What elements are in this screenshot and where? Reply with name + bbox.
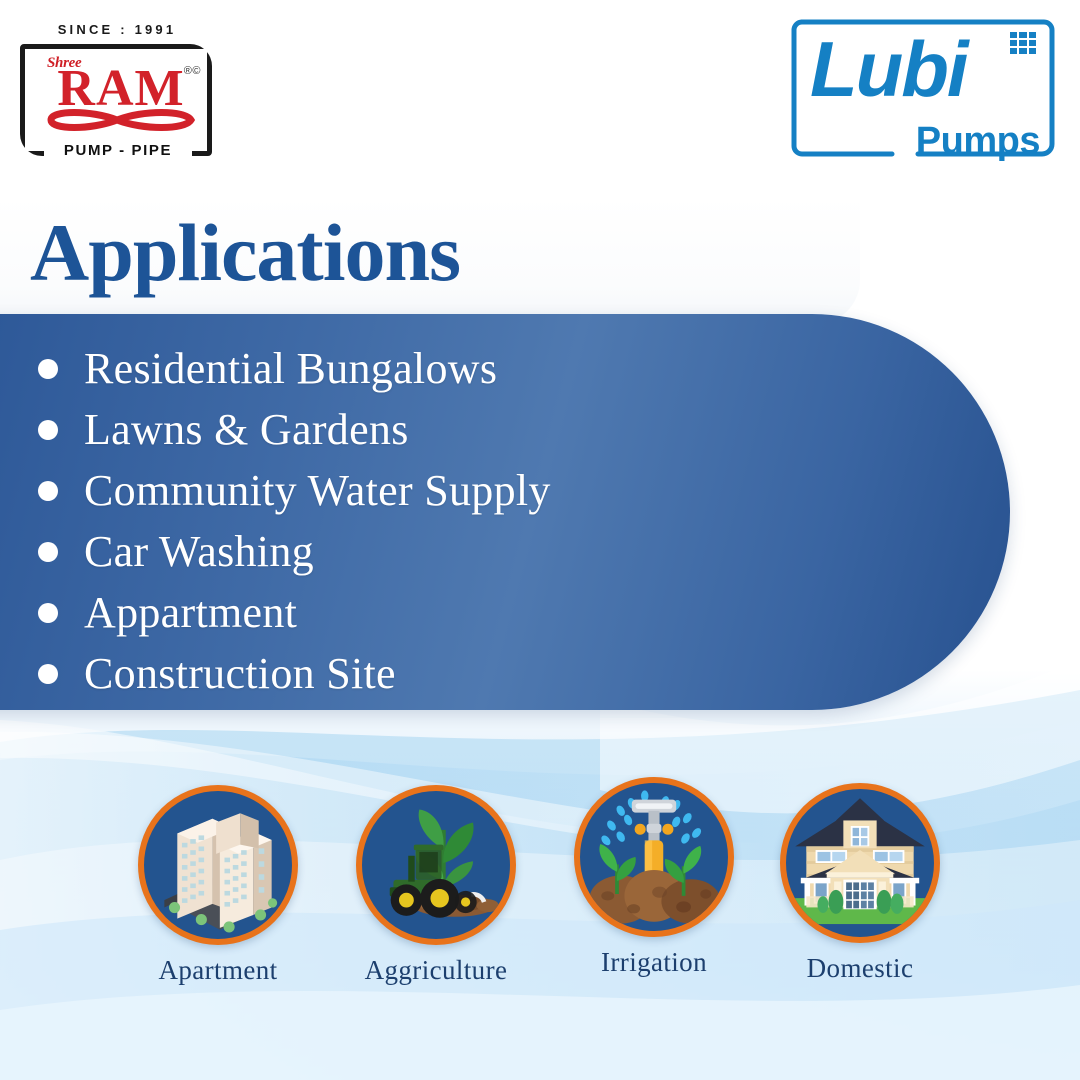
pump-pipe-tagline-wrap: PUMP - PIPE <box>44 142 192 160</box>
sprinkler-glyph <box>580 783 728 931</box>
icon-caption: Apartment <box>130 955 306 986</box>
list-item: Community Water Supply <box>30 460 730 521</box>
house-glyph <box>786 789 934 937</box>
list-item-label: Residential Bungalows <box>84 347 497 391</box>
list-item: Lawns & Gardens <box>30 399 730 460</box>
bullet-icon <box>38 603 58 623</box>
icon-item-aggriculture: Aggriculture <box>348 785 524 986</box>
tractor-plant-icon <box>356 785 516 945</box>
application-icons-row: Apartment <box>0 785 1080 1045</box>
shree-ram-logo: SINCE : 1991 Shree RAM ®© PUMP - PIPE <box>14 22 220 162</box>
shree-ram-logo-inner: Shree RAM ®© <box>25 49 207 151</box>
ram-swirl-icon <box>45 107 197 133</box>
bullet-icon <box>38 664 58 684</box>
list-item-label: Car Washing <box>84 530 314 574</box>
icon-item-apartment: Apartment <box>130 785 306 986</box>
icon-item-domestic: Domestic <box>772 783 948 984</box>
sprinkler-icon <box>574 777 734 937</box>
poster-canvas: SINCE : 1991 Shree RAM ®© PUMP - PIPE Lu… <box>0 0 1080 1080</box>
apartment-buildings-glyph <box>144 791 292 939</box>
house-icon <box>780 783 940 943</box>
tractor-plant-glyph <box>362 791 510 939</box>
shree-ram-logo-frame: Shree RAM ®© <box>20 44 212 156</box>
lubi-pumps-logo: Lubi Pumps <box>788 16 1058 168</box>
pumps-wordmark: Pumps <box>916 122 1040 160</box>
bullet-icon <box>38 359 58 379</box>
list-item: Residential Bungalows <box>30 338 730 399</box>
icon-caption: Domestic <box>772 953 948 984</box>
icon-caption: Irrigation <box>566 947 742 978</box>
page-title: Applications <box>30 212 460 294</box>
bullet-icon <box>38 420 58 440</box>
list-item: Construction Site <box>30 643 730 704</box>
bullet-icon <box>38 481 58 501</box>
applications-list: Residential Bungalows Lawns & Gardens Co… <box>30 338 730 704</box>
lubi-wordmark: Lubi <box>810 30 967 108</box>
apartment-buildings-icon <box>138 785 298 945</box>
lubi-grid-icon <box>1010 32 1036 54</box>
list-item-label: Appartment <box>84 591 297 635</box>
pump-pipe-tagline: PUMP - PIPE <box>62 142 174 159</box>
icon-caption: Aggriculture <box>348 955 524 986</box>
trademark-icon: ®© <box>184 65 201 77</box>
list-item-label: Construction Site <box>84 652 396 696</box>
list-item-label: Community Water Supply <box>84 469 551 513</box>
bullet-icon <box>38 542 58 562</box>
list-item: Appartment <box>30 582 730 643</box>
list-item-label: Lawns & Gardens <box>84 408 409 452</box>
icon-item-irrigation: Irrigation <box>566 777 742 978</box>
since-text: SINCE : 1991 <box>14 22 220 37</box>
list-item: Car Washing <box>30 521 730 582</box>
